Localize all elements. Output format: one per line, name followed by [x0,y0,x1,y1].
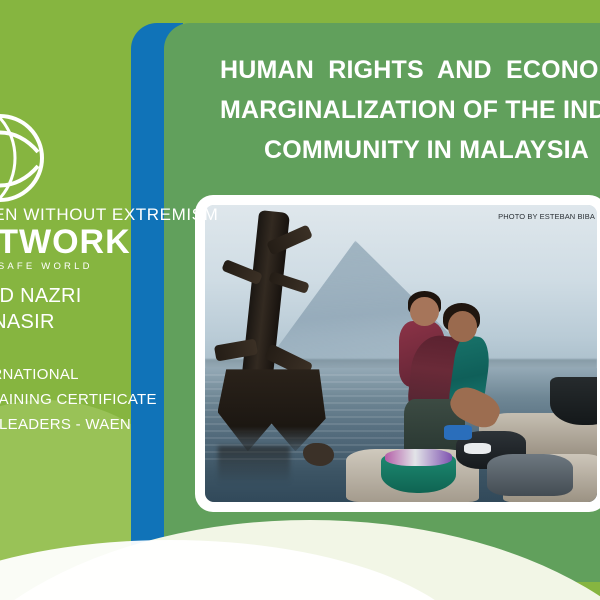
speaker-name-line-2: BIN NASIR [0,309,132,335]
woman-head [448,311,478,342]
presentation-slide: HUMAN RIGHTS AND ECONOMIC MARGINALIZATIO… [0,0,600,600]
photo-image: PHOTO BY ESTEBAN BIBA [205,205,597,502]
baby-head [410,297,439,326]
photo-laundry-item [464,443,491,455]
title-line-2: MARGINALIZATION OF THE INDIGENOUS [180,90,600,130]
org-name-line-2: NETWORK [0,225,133,259]
driftwood-roots [218,369,326,451]
organization-name: WOMEN WITHOUT EXTREMISM NETWORK FOR A SA… [0,205,133,275]
photo-laundry-pile [487,454,573,496]
speaker-name-line-1: MOHD NAZRI [0,283,132,309]
title-line-1: HUMAN RIGHTS AND ECONOMIC [180,50,600,90]
credential-line-2: TRAINING CERTIFICATE [0,387,136,412]
slide-title: HUMAN RIGHTS AND ECONOMIC MARGINALIZATIO… [180,50,600,170]
speaker-name: MOHD NAZRI BIN NASIR [0,283,132,335]
title-line-3: COMMUNITY IN MALAYSIA [180,130,600,170]
globe-leaf-logo-icon [0,112,46,204]
credential-line-1: INTERNATIONAL [0,362,136,387]
org-tagline: FOR A SAFE WORLD [0,259,133,275]
photo-card: PHOTO BY ESTEBAN BIBA [195,195,600,512]
photo-basin-contents [385,449,452,467]
photo-laundry-item [444,425,471,440]
photo-credit: PHOTO BY ESTEBAN BIBA [498,212,595,221]
driftwood-reflection [218,446,291,484]
credential-line-3: FOR LEADERS - WAEN [0,412,136,437]
org-name-line-1: WOMEN WITHOUT EXTREMISM [0,205,133,225]
credential-block: INTERNATIONAL TRAINING CERTIFICATE FOR L… [0,362,136,437]
